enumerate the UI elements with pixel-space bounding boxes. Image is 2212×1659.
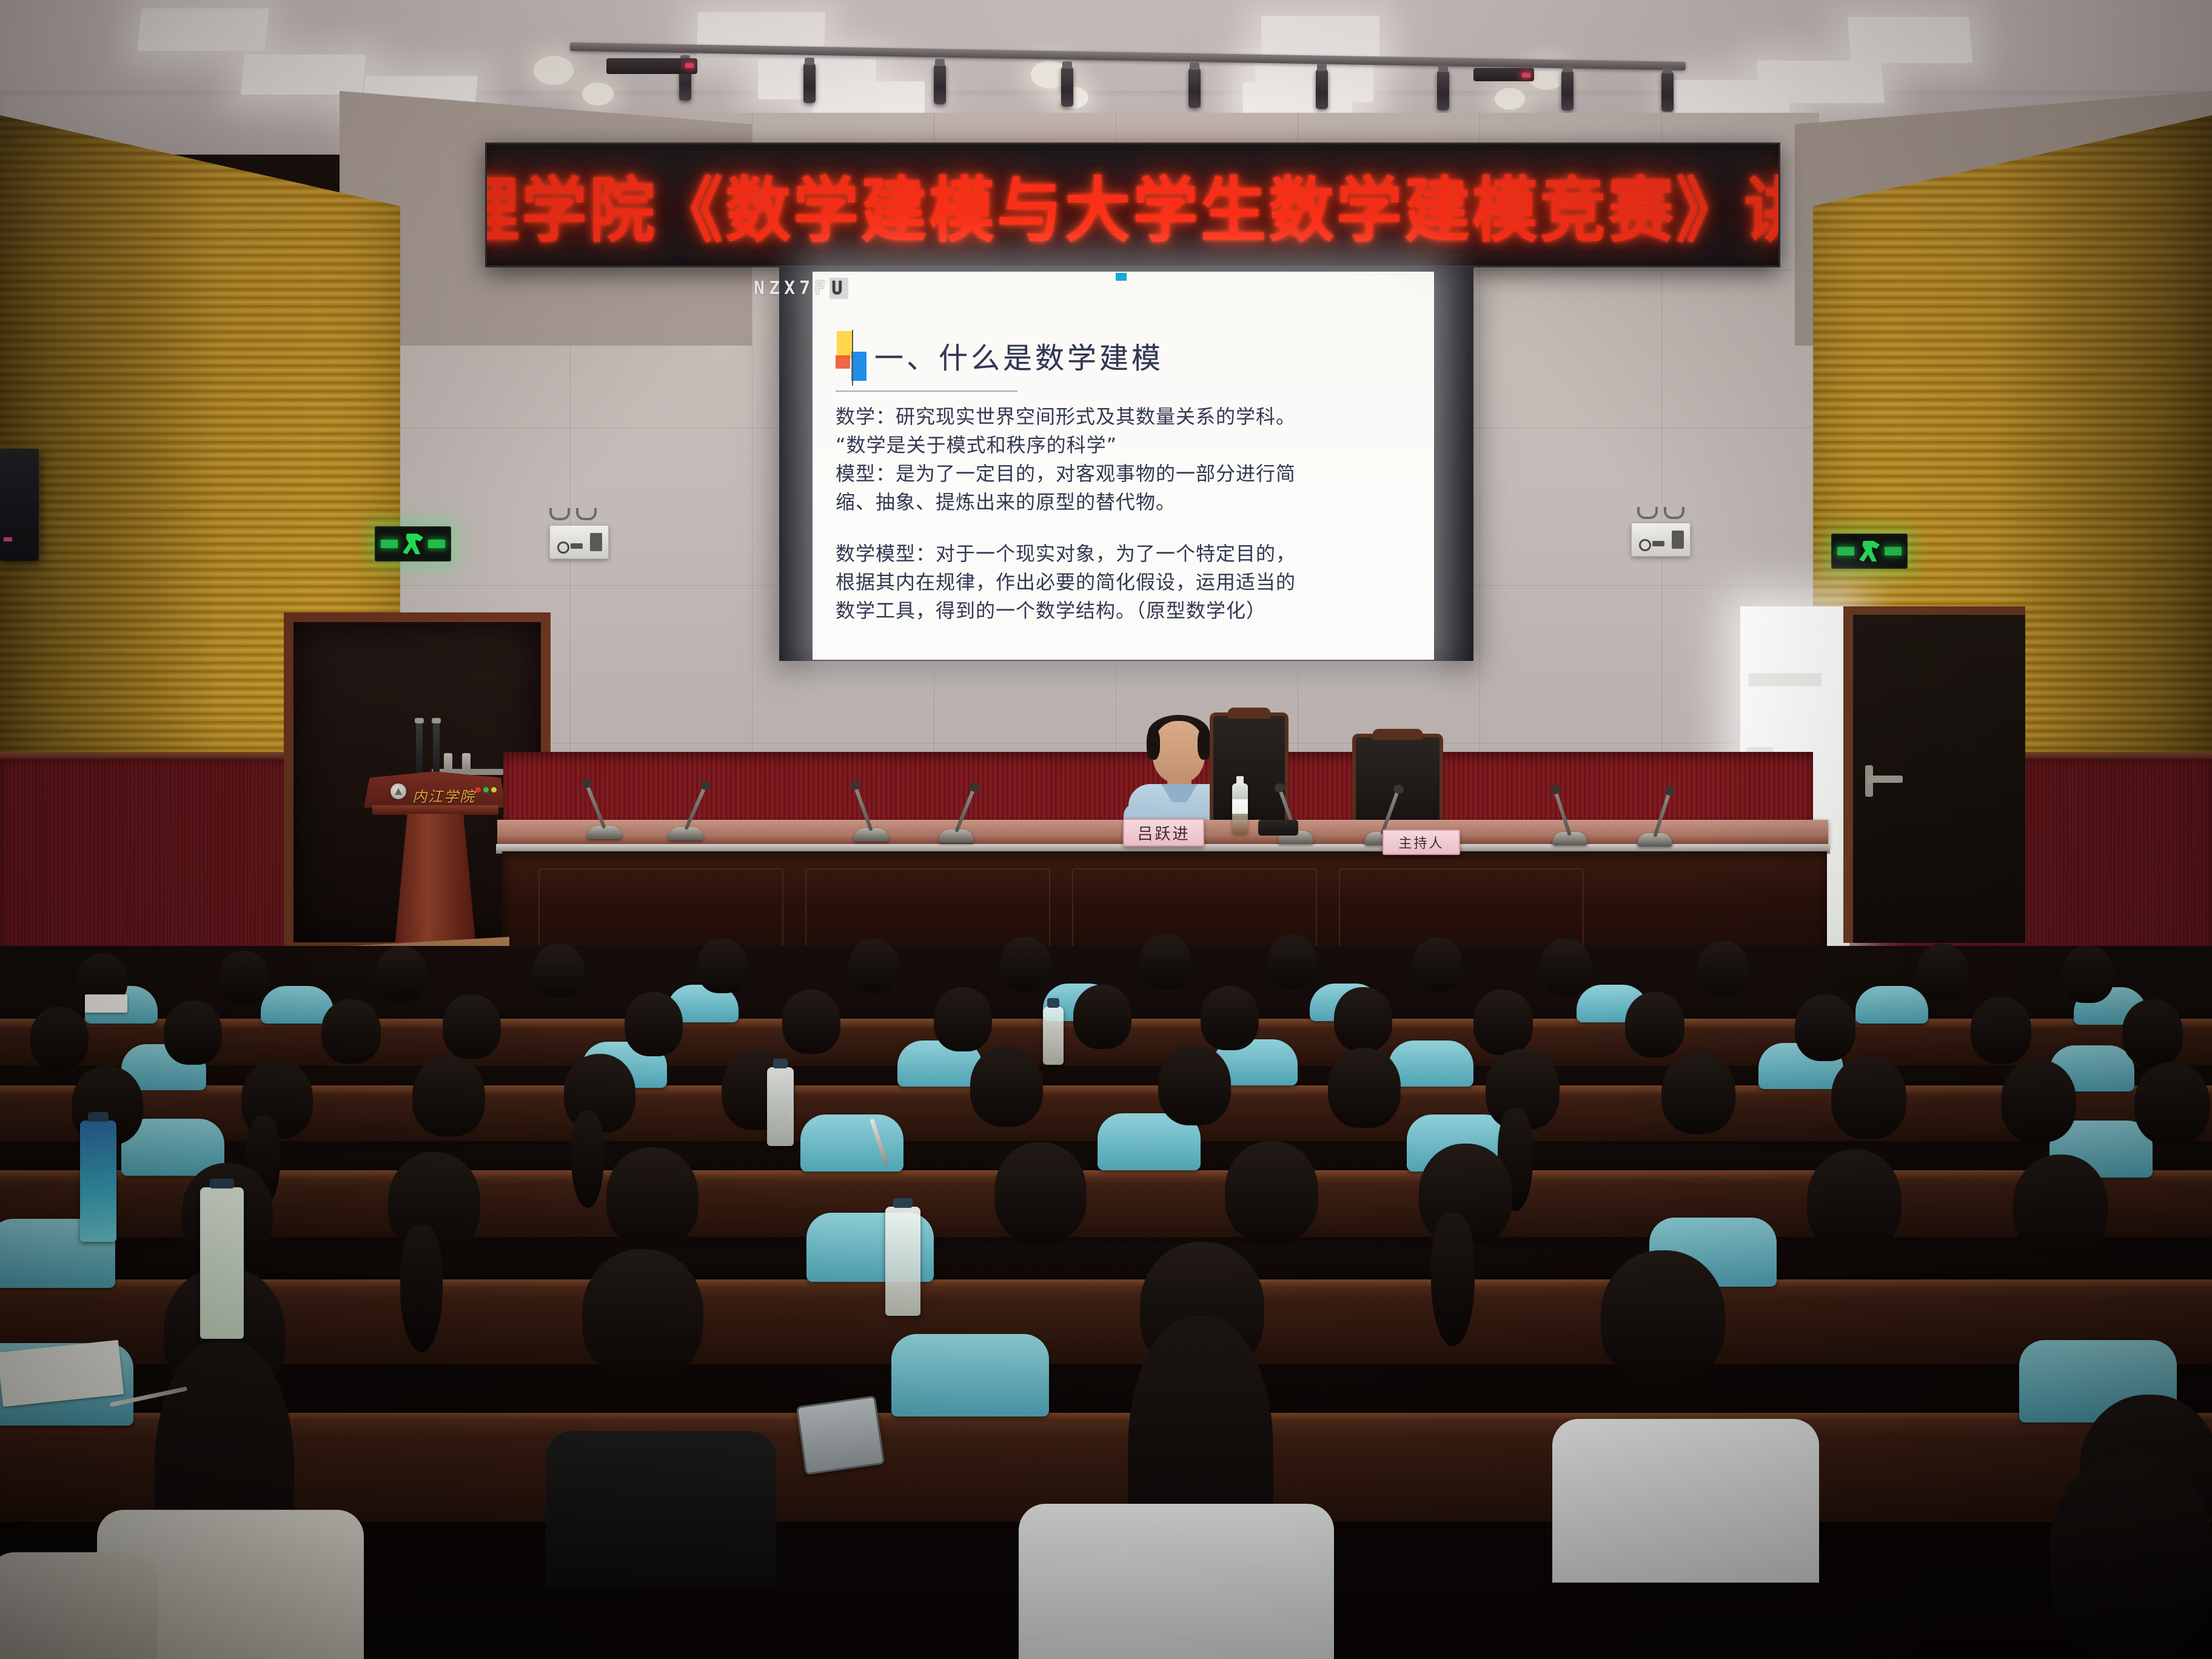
exit-bar xyxy=(428,540,445,548)
slide-title-row: 一、什么是数学建模 xyxy=(836,330,1164,381)
audience-head xyxy=(1831,1056,1906,1139)
audience-head xyxy=(970,1047,1043,1127)
audience-head xyxy=(625,992,683,1056)
seat xyxy=(891,1334,1049,1416)
led-yellow xyxy=(491,787,497,793)
led-banner-text: 数理学院《数学建模与大学生数学建模竞赛》讲座 xyxy=(485,154,1780,256)
ceiling-panel-light xyxy=(813,81,925,116)
led-red xyxy=(475,787,481,793)
water-bottle-clear xyxy=(1043,1007,1064,1065)
lecture-hall-photo: 数理学院《数学建模与大学生数学建模竞赛》讲座 xyxy=(0,0,2212,1659)
track-spotlight xyxy=(803,63,816,103)
table-object xyxy=(1258,820,1298,836)
red-square xyxy=(836,355,850,369)
track-spotlight xyxy=(1061,67,1073,107)
desk-top xyxy=(0,1413,2212,1421)
podium-school-name: 内江学院 xyxy=(412,785,475,806)
audience-head xyxy=(164,1000,222,1065)
control-switch[interactable] xyxy=(1652,541,1664,546)
water-bottle-clear xyxy=(885,1207,920,1316)
audience-head xyxy=(1201,986,1259,1050)
podium-shelf xyxy=(372,805,498,815)
control-switch[interactable] xyxy=(571,543,583,549)
audience-head xyxy=(1625,992,1684,1057)
wall-hook xyxy=(549,508,570,520)
projection-screen: 一、什么是数学建模 数学：研究现实世界空间形式及其数量关系的学科。 “数学是关于… xyxy=(813,272,1434,660)
track-spotlight xyxy=(1661,72,1674,112)
audience-head xyxy=(443,994,501,1059)
audience-head xyxy=(376,946,427,1002)
slide-content: 一、什么是数学建模 数学：研究现实世界空间形式及其数量关系的学科。 “数学是关于… xyxy=(813,272,1434,660)
ponytail xyxy=(571,1111,604,1208)
hair-side xyxy=(1147,728,1160,760)
led-green xyxy=(483,787,489,793)
audience-shoulders xyxy=(1019,1504,1334,1659)
ceiling-panel-light xyxy=(1672,80,1790,116)
slide-decoration-icon xyxy=(836,330,870,381)
podium-microphone xyxy=(433,722,440,776)
table-panel xyxy=(1339,868,1584,956)
audience-head xyxy=(1334,987,1392,1051)
slide-line: 数学：研究现实世界空间形式及其数量关系的学科。 xyxy=(836,403,1418,431)
control-display xyxy=(1672,531,1684,549)
table-panel xyxy=(538,868,783,956)
audience-head xyxy=(1413,937,1463,992)
exit-bar xyxy=(1885,547,1902,555)
projector-indicator-led xyxy=(1522,73,1530,78)
audience-head xyxy=(849,939,899,993)
audience-head xyxy=(2122,999,2183,1066)
screen-watermark: NZX7FU xyxy=(754,278,848,299)
audience-head xyxy=(1267,935,1317,990)
water-bottle-presidium xyxy=(1232,783,1248,834)
ponytail xyxy=(400,1225,443,1352)
ceiling-panel-light xyxy=(1261,16,1379,59)
running-man-icon xyxy=(1859,541,1880,561)
ceiling-downlight xyxy=(534,56,574,85)
control-knob[interactable] xyxy=(557,541,569,554)
audience-head xyxy=(1473,990,1533,1055)
nameplate-host: 主持人 xyxy=(1382,829,1460,855)
wall-speaker-left xyxy=(0,449,39,561)
watermark-text: NZX7F xyxy=(754,278,829,299)
podium-microphone xyxy=(416,722,423,776)
audience-head xyxy=(1540,939,1591,994)
exit-sign-right xyxy=(1831,534,1908,569)
wall-hook xyxy=(576,508,597,520)
audience-head xyxy=(934,987,992,1051)
audience-head xyxy=(2062,946,2114,1003)
slide-line: 数学工具，得到的一个数学结构。（原型数学化） xyxy=(836,597,1418,625)
water-bottle-clear xyxy=(767,1067,794,1146)
audience-head xyxy=(1225,1141,1318,1243)
ceiling-panel-light xyxy=(137,8,269,51)
audience-head xyxy=(1971,997,2031,1064)
audience-head xyxy=(412,1056,485,1136)
thermos-bottle-green xyxy=(200,1187,244,1339)
track-spotlight xyxy=(1188,68,1201,108)
control-display xyxy=(590,533,602,551)
audience-head xyxy=(1601,1250,1725,1384)
ceiling-panel-light xyxy=(1848,17,1973,63)
wall-hook xyxy=(1637,507,1658,519)
audience-head xyxy=(2013,1155,2108,1258)
slide-line: 根据其内在规律，作出必要的简化假设，运用适当的 xyxy=(836,568,1418,597)
audience-head xyxy=(1661,1053,1735,1134)
slide-line: “数学是关于模式和秩序的科学” xyxy=(836,431,1418,460)
audience-head xyxy=(1073,985,1131,1049)
audience-head xyxy=(1140,934,1191,990)
audience-head xyxy=(1916,943,1968,1000)
exit-bar xyxy=(381,540,398,548)
audience-head xyxy=(30,1007,89,1070)
audience-head xyxy=(1158,1045,1231,1125)
led-banner: 数理学院《数学建模与大学生数学建模竞赛》讲座 xyxy=(485,142,1780,267)
track-spotlight xyxy=(1316,69,1328,109)
ceiling-downlight xyxy=(1495,88,1525,110)
stage-door-right[interactable] xyxy=(1843,606,2025,943)
audience-head xyxy=(782,990,840,1054)
stage-chair-speaker xyxy=(1210,712,1289,834)
desk-top xyxy=(0,1279,2212,1288)
slide-line: 缩、抽象、提炼出来的原型的替代物。 xyxy=(836,488,1418,517)
audience-head xyxy=(994,1142,1087,1243)
vertical-rule xyxy=(852,330,853,386)
slide-body: 数学：研究现实世界空间形式及其数量关系的学科。 “数学是关于模式和秩序的科学” … xyxy=(836,403,1418,625)
ceiling-projector xyxy=(606,58,697,74)
watermark-boxed-char: U xyxy=(829,278,848,299)
ceiling-projector xyxy=(1473,68,1534,81)
wall-hook xyxy=(1664,507,1684,519)
desk-row xyxy=(0,1279,2212,1364)
nameplate-speaker: 吕跃进 xyxy=(1123,819,1204,846)
podium: 内江学院 xyxy=(364,771,506,953)
audience-head xyxy=(2001,1060,2076,1142)
audience-head xyxy=(1698,941,1749,997)
audience-shoulders xyxy=(546,1431,776,1589)
track-spotlight xyxy=(1437,70,1449,110)
running-man-icon xyxy=(403,534,423,554)
audience-head xyxy=(321,999,381,1064)
wall-control-panel-right[interactable] xyxy=(1631,523,1691,557)
blue-square xyxy=(851,352,866,381)
bottle-label xyxy=(1232,799,1248,814)
school-emblem-icon xyxy=(390,783,406,799)
nameplate-host-text: 主持人 xyxy=(1398,833,1444,852)
head xyxy=(1153,721,1205,783)
audience-head xyxy=(1328,1048,1401,1128)
seat xyxy=(1855,986,1928,1024)
ceiling-downlight xyxy=(582,82,614,106)
seat xyxy=(261,986,333,1024)
wall-control-panel-left[interactable] xyxy=(549,525,609,559)
slide-line: 模型：是为了一定目的，对客观事物的一部分进行简 xyxy=(836,460,1418,488)
ceiling-panel-light xyxy=(241,55,366,95)
water-bottle-blue xyxy=(80,1121,116,1242)
nameplate-speaker-text: 吕跃进 xyxy=(1137,822,1190,844)
audience-head xyxy=(2134,1062,2210,1145)
outside-building-shape xyxy=(1749,673,1822,686)
projector-indicator-led xyxy=(685,63,694,68)
audience-head xyxy=(582,1249,703,1380)
exit-bar xyxy=(1837,547,1854,555)
audience-shoulders xyxy=(0,1552,158,1659)
slide-spacer xyxy=(836,517,1418,540)
control-knob[interactable] xyxy=(1639,539,1651,551)
audience-head xyxy=(697,939,747,993)
track-spotlight xyxy=(1561,70,1574,110)
slide-line: 数学模型：对于一个现实对象，为了一个特定目的， xyxy=(836,540,1418,568)
paper-sheet xyxy=(85,994,127,1013)
audience-head xyxy=(220,951,268,1004)
exit-sign-left xyxy=(375,526,451,561)
ponytail xyxy=(1431,1213,1475,1346)
door-lever[interactable] xyxy=(1868,776,1903,783)
track-spotlight xyxy=(934,64,946,104)
audience-head xyxy=(1000,937,1050,991)
audience-head xyxy=(1795,994,1855,1061)
speaker-label xyxy=(4,537,12,541)
long-hair xyxy=(2049,1455,2212,1659)
slide-title: 一、什么是数学建模 xyxy=(874,334,1164,377)
audience-head xyxy=(534,943,585,998)
audience-head xyxy=(606,1147,699,1248)
smartphone[interactable] xyxy=(796,1395,885,1475)
slide-title-underline xyxy=(836,390,1017,392)
audience-shoulders xyxy=(1552,1419,1819,1583)
audience-head xyxy=(1807,1150,1902,1253)
hair-side xyxy=(1198,728,1211,760)
projection-screen-frame: 一、什么是数学建模 数学：研究现实世界空间形式及其数量关系的学科。 “数学是关于… xyxy=(779,267,1473,661)
podium-column xyxy=(394,814,477,953)
podium-indicator-leds xyxy=(475,787,497,793)
seat xyxy=(1389,1041,1473,1087)
